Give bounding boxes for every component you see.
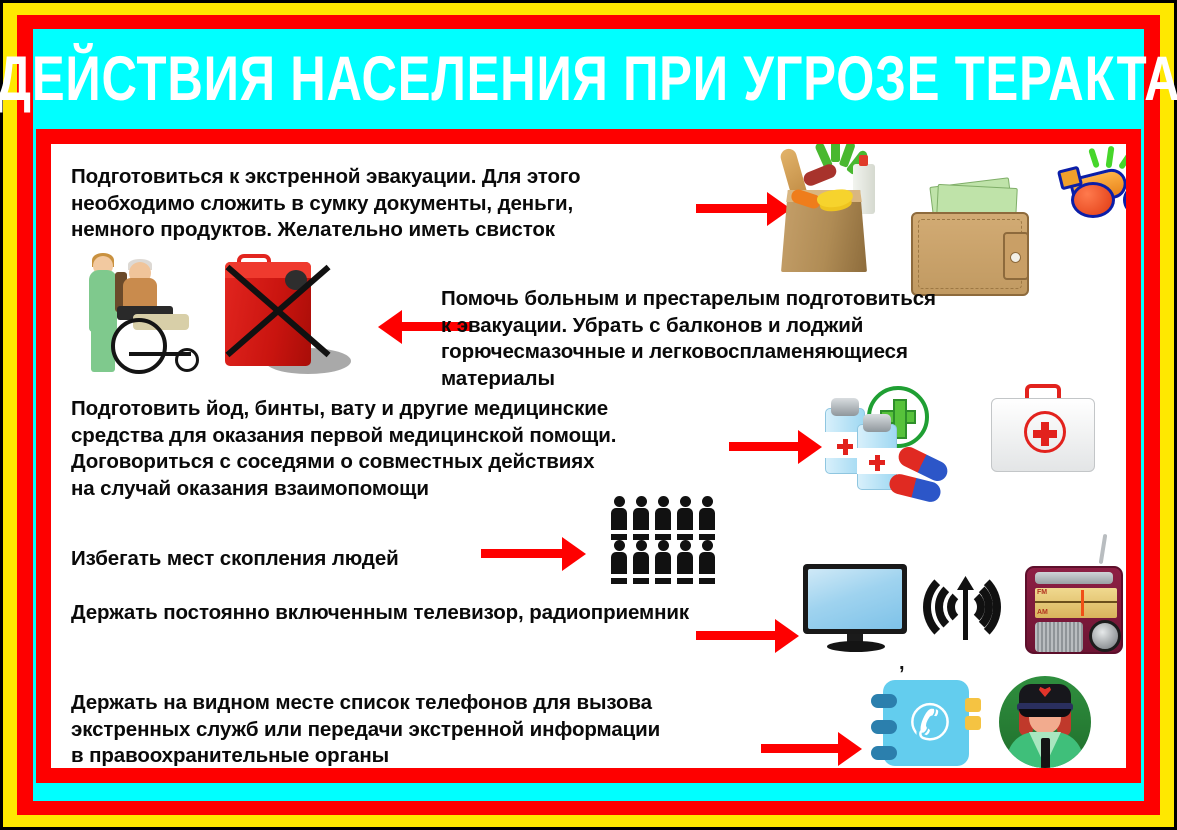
crowd-icon <box>611 496 727 586</box>
broadcast-signal-icon <box>919 556 1015 652</box>
television-icon <box>803 564 913 656</box>
text-help-sick-elderly: Помочь больным и престарелым подготовить… <box>441 286 1041 393</box>
text-medical-supplies: Подготовить йод, бинты, вату и другие ме… <box>71 396 751 503</box>
text-evacuation-kit: Подготовиться к экстренной эвакуации. Дл… <box>71 164 701 244</box>
wallet-icon <box>911 166 1035 278</box>
first-aid-case-icon <box>991 396 1111 492</box>
whistle-icon <box>1053 146 1126 224</box>
content-panel: Подготовиться к экстренной эвакуации. Дл… <box>51 144 1126 768</box>
text-avoid-crowds: Избегать мест скопления людей <box>71 546 491 573</box>
title-band: ДЕЙСТВИЯ НАСЕЛЕНИЯ ПРИ УГРОЗЕ ТЕРАКТА <box>33 29 1144 129</box>
medicine-bottles-icon <box>811 382 961 502</box>
grocery-bag-icon <box>781 150 877 278</box>
arrow-emergency-phone-list <box>761 744 839 753</box>
arrow-avoid-crowds <box>481 549 563 558</box>
arrow-evacuation-kit <box>696 204 768 213</box>
jerrycan-prohibited-icon <box>211 252 361 386</box>
arrow-keep-tv-radio-on <box>696 631 776 640</box>
radio-receiver-icon: FM AM <box>1023 558 1126 674</box>
radio-am-label: AM <box>1037 609 1048 616</box>
nurse-wheelchair-icon <box>71 256 211 386</box>
page-title: ДЕЙСТВИЯ НАСЕЛЕНИЯ ПРИ УГРОЗЕ ТЕРАКТА <box>0 48 1177 111</box>
text-emergency-phone-list: Держать на видном месте список телефонов… <box>71 690 791 768</box>
text-keep-tv-radio-on: Держать постоянно включенным телевизор, … <box>71 600 811 627</box>
phone-book-icon: ✆ <box>869 680 979 768</box>
comma-mark: , <box>899 652 905 675</box>
arrow-medical-supplies <box>729 442 799 451</box>
poster-root: ДЕЙСТВИЯ НАСЕЛЕНИЯ ПРИ УГРОЗЕ ТЕРАКТА По… <box>0 0 1177 830</box>
police-officer-icon <box>999 676 1099 768</box>
radio-fm-label: FM <box>1037 589 1047 596</box>
